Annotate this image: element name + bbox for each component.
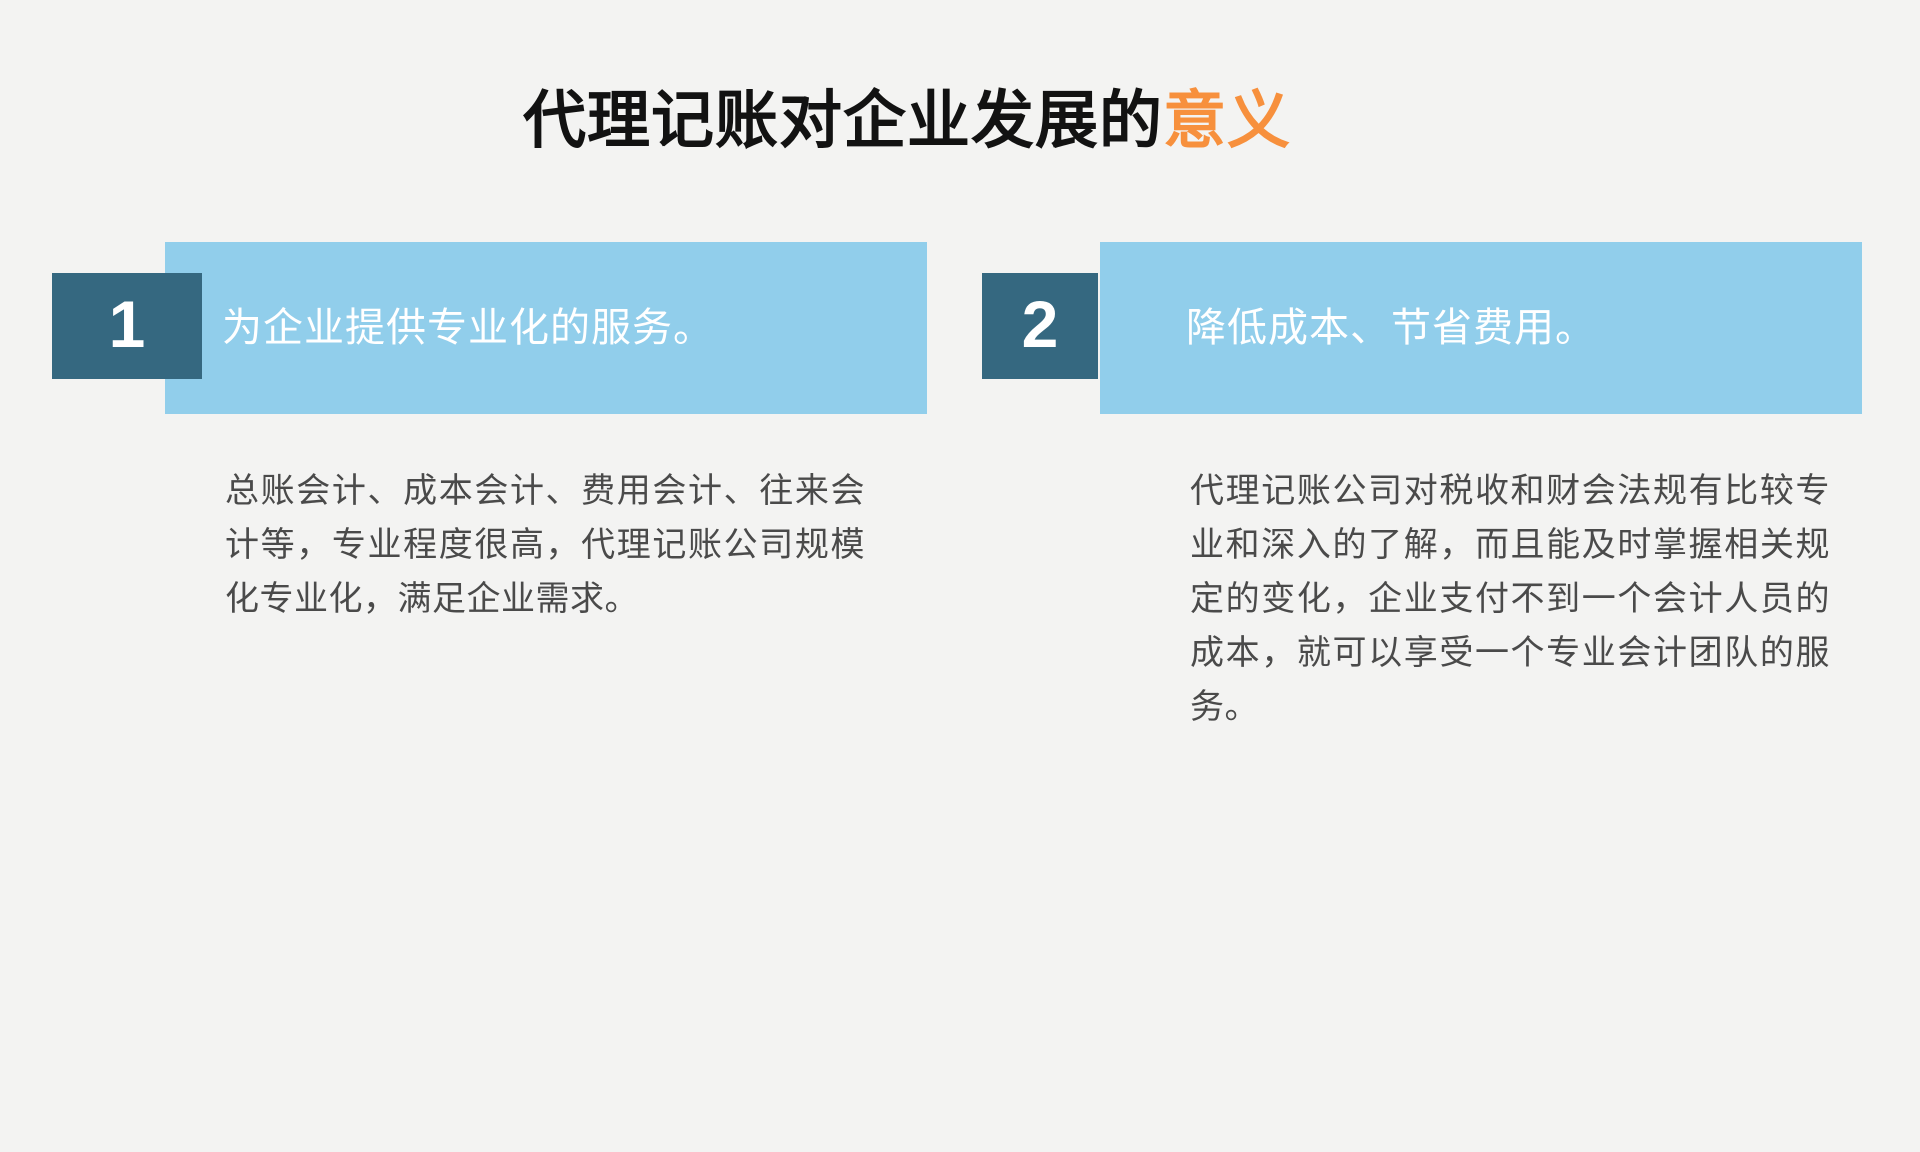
page-title: 代理记账对企业发展的意义	[0, 86, 1920, 157]
card-1-number: 1	[52, 273, 202, 379]
card-2-number-badge: 2	[982, 273, 1098, 379]
title-text: 代理记账对企业发展的意义	[523, 86, 1291, 157]
card-2-body: 代理记账公司对税收和财会法规有比较专业和深入的了解，而且能及时掌握相关规定的变化…	[1190, 464, 1830, 734]
card-1-number-badge: 1	[52, 273, 202, 379]
title-accent-text: 意义	[1163, 86, 1291, 156]
card-2-number: 2	[982, 273, 1098, 379]
card-2: 2 降低成本、节省费用。 代理记账公司对税收和财会法规有比较专业和深入的了解，而…	[1100, 242, 1862, 1152]
slide-canvas: 代理记账对企业发展的意义 1 为企业提供专业化的服务。 总账会计、成本会计、费用…	[0, 0, 1920, 910]
title-main-text: 代理记账对企业发展的	[523, 86, 1163, 156]
card-1-body: 总账会计、成本会计、费用会计、往来会计等，专业程度很高，代理记账公司规模化专业化…	[225, 464, 865, 626]
card-2-heading: 降低成本、节省费用。	[1186, 242, 1596, 414]
card-1-heading: 为企业提供专业化的服务。	[222, 242, 714, 414]
card-1: 1 为企业提供专业化的服务。 总账会计、成本会计、费用会计、往来会计等，专业程度…	[165, 242, 927, 1152]
